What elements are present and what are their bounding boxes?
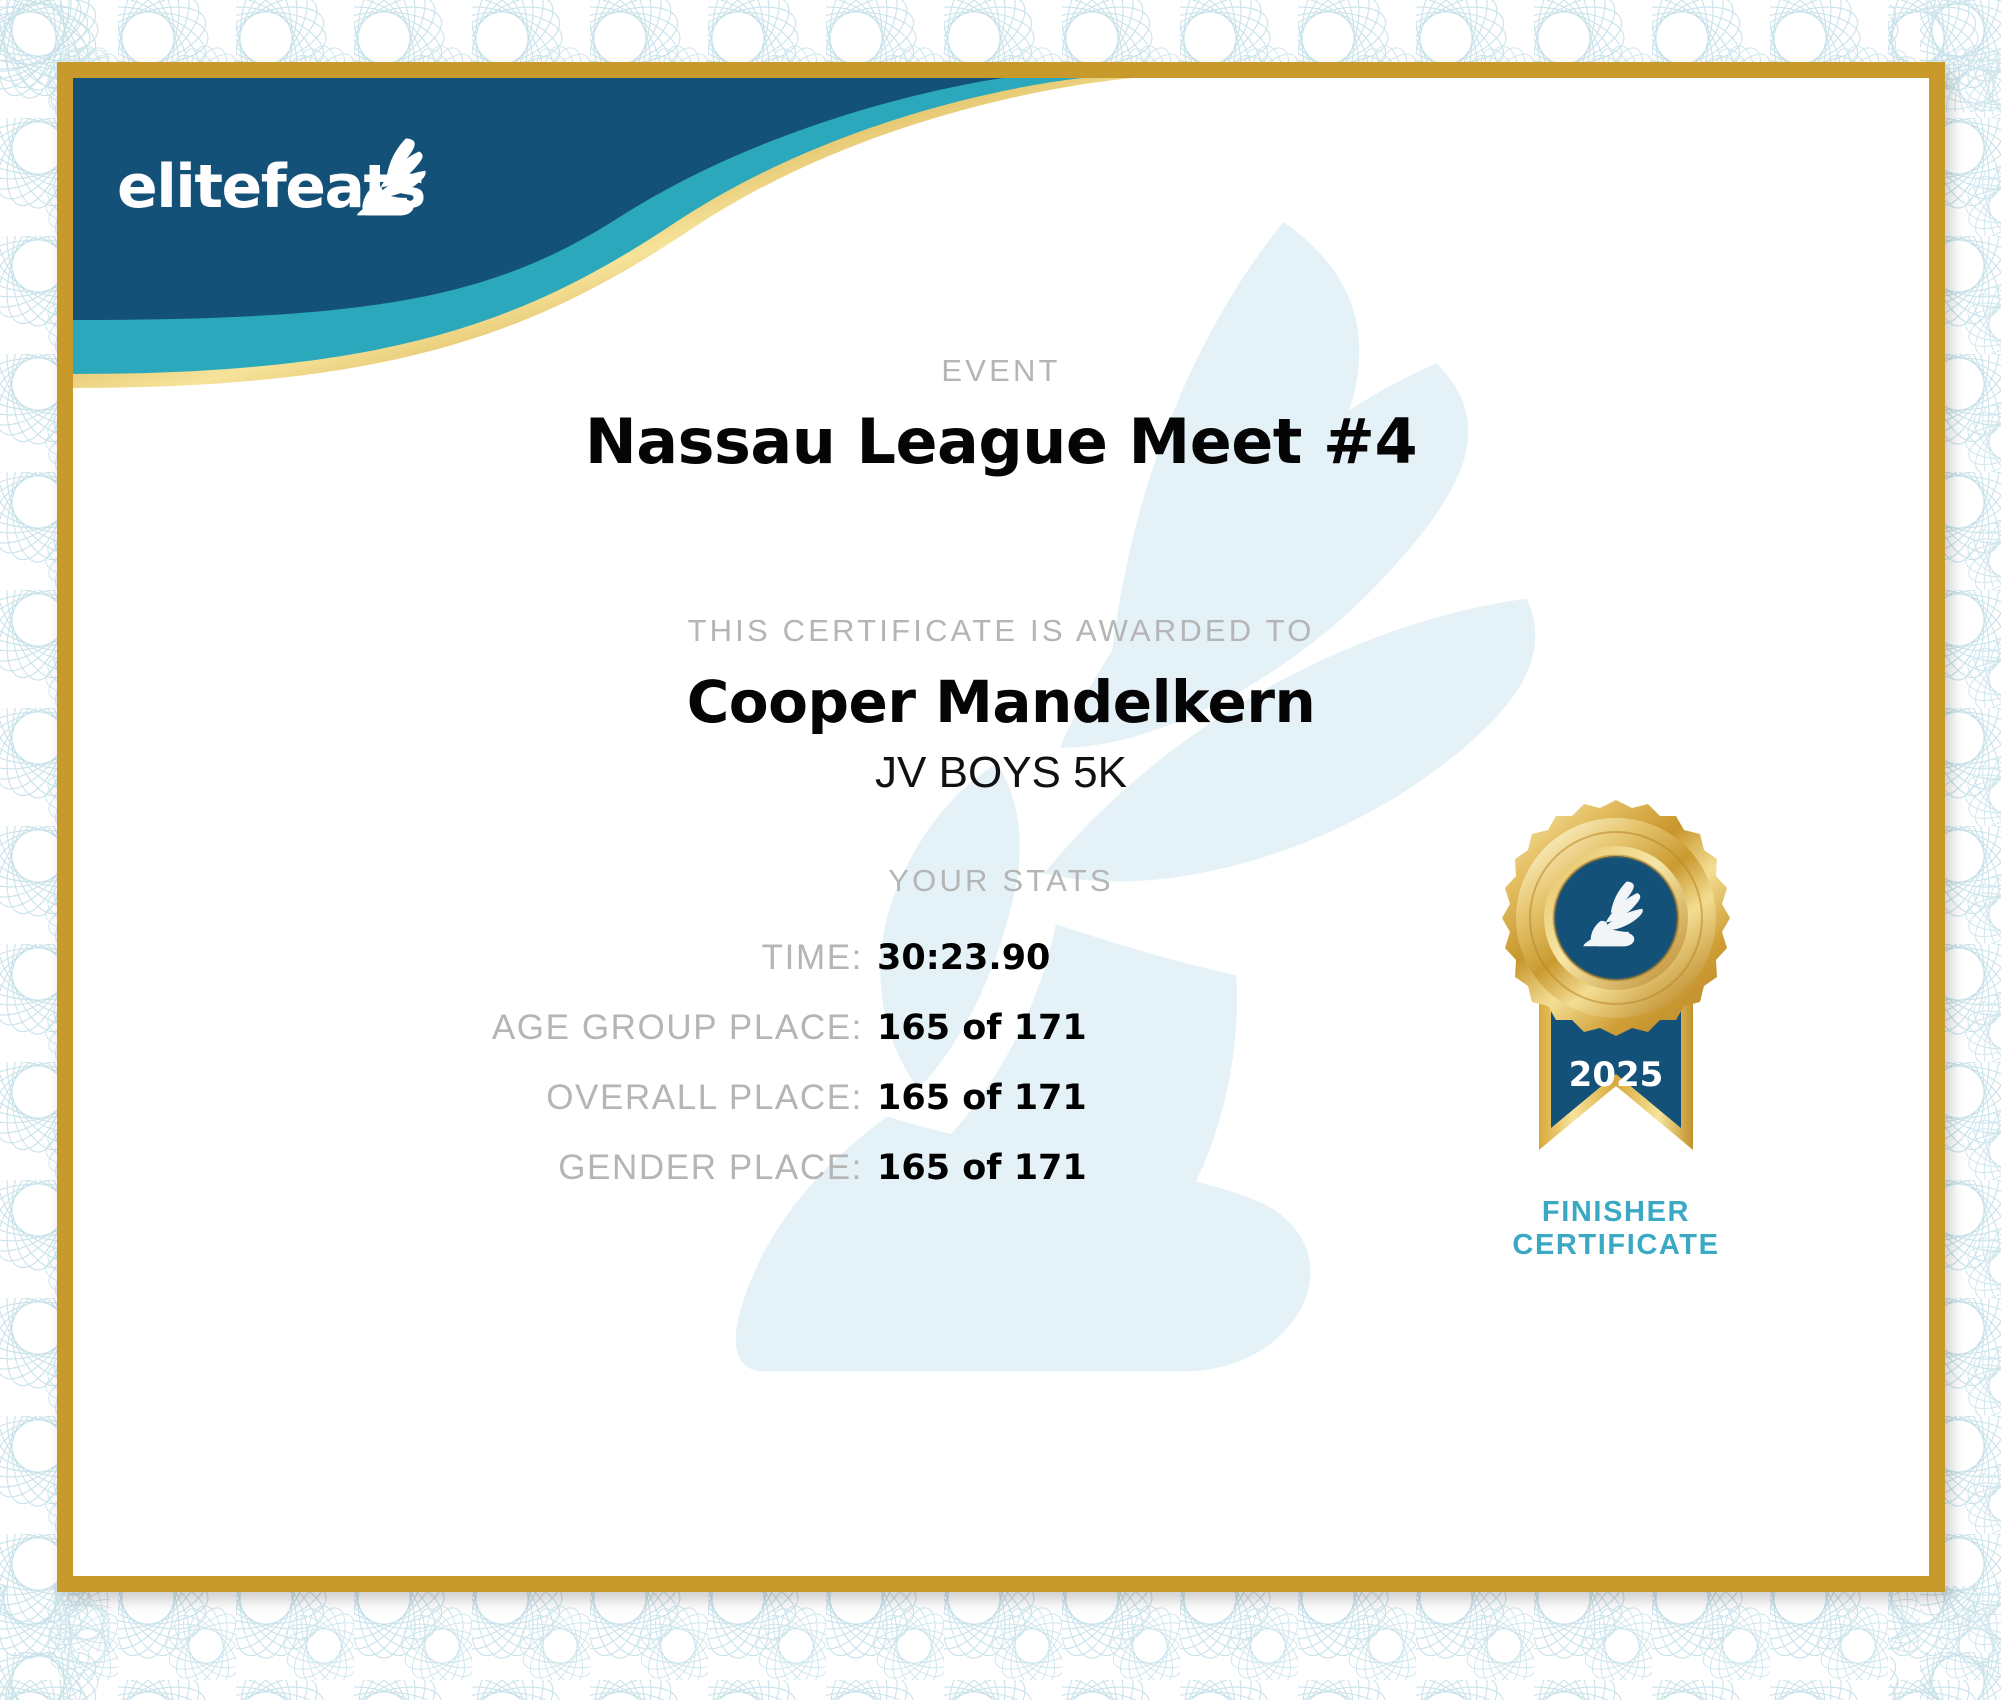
stat-row-gender-place: GENDER PLACE: 165 of 171 [73,1148,1403,1204]
stat-value: 30:23.90 [877,938,1050,978]
stat-label: AGE GROUP PLACE: [73,1008,863,1048]
stat-row-age-group-place: AGE GROUP PLACE: 165 of 171 [73,1008,1403,1064]
stat-label: TIME: [73,938,863,978]
medal-ribbon-icon: 2025 [1471,798,1761,1198]
badge-caption-line1: FINISHER [1471,1196,1761,1229]
winged-foot-icon [357,136,427,216]
badge-caption: FINISHER CERTIFICATE [1471,1196,1761,1262]
certificate-gold-frame: elitefeats EVENT Nassau League Meet #4 T… [57,62,1945,1592]
stat-label: GENDER PLACE: [73,1148,863,1188]
stat-row-time: TIME: 30:23.90 [73,938,1403,994]
stat-label: OVERALL PLACE: [73,1078,863,1118]
stats-list: TIME: 30:23.90 AGE GROUP PLACE: 165 of 1… [73,938,1403,1218]
event-name: Nassau League Meet #4 [73,405,1929,478]
badge-year: 2025 [1569,1055,1664,1095]
finisher-medal-badge: 2025 FINISHER CERTIFICATE [1471,798,1761,1268]
certificate-card: elitefeats EVENT Nassau League Meet #4 T… [73,78,1929,1576]
event-label: EVENT [73,353,1929,389]
stat-value: 165 of 171 [877,1148,1087,1188]
certificate-page: elitefeats EVENT Nassau League Meet #4 T… [0,0,2001,1700]
recipient-name: Cooper Mandelkern [73,668,1929,736]
elitefeats-logo: elitefeats [117,140,477,236]
awarded-to-label: THIS CERTIFICATE IS AWARDED TO [73,613,1929,649]
race-category: JV BOYS 5K [73,748,1929,798]
stat-row-overall-place: OVERALL PLACE: 165 of 171 [73,1078,1403,1134]
stat-value: 165 of 171 [877,1078,1087,1118]
stat-value: 165 of 171 [877,1008,1087,1048]
badge-caption-line2: CERTIFICATE [1471,1229,1761,1262]
